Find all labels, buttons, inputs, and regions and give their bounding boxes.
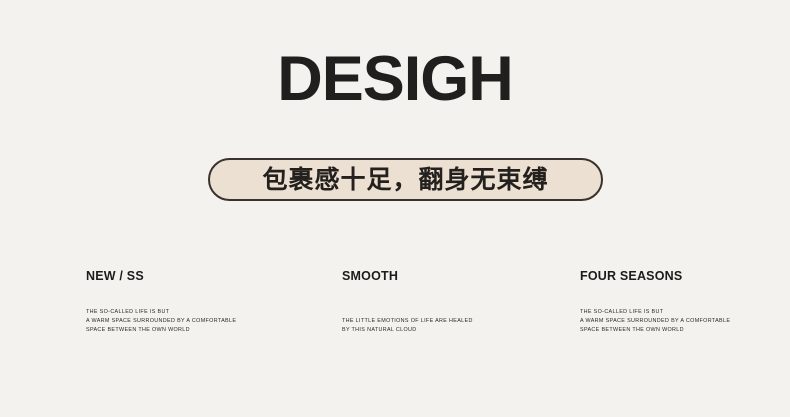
feature-body-line: THE SO-CALLED LIFE IS BUT	[86, 308, 286, 317]
tagline-badge-pill: 包裹感十足，翻身无束缚	[208, 158, 603, 201]
tagline-badge: 包裹感十足，翻身无束缚	[208, 158, 603, 201]
feature-body: THE LITTLE EMOTIONS OF LIFE ARE HEALED B…	[342, 317, 542, 335]
feature-heading: SMOOTH	[342, 270, 542, 283]
feature-heading: NEW / SS	[86, 270, 286, 283]
feature-body-line: THE LITTLE EMOTIONS OF LIFE ARE HEALED	[342, 317, 542, 326]
feature-body: THE SO-CALLED LIFE IS BUT A WARM SPACE S…	[580, 308, 780, 335]
feature-body-line: A WARM SPACE SURROUNDED BY A COMFORTABLE	[86, 317, 286, 326]
feature-body-line: THE SO-CALLED LIFE IS BUT	[580, 308, 780, 317]
feature-body: THE SO-CALLED LIFE IS BUT A WARM SPACE S…	[86, 308, 286, 335]
feature-body-line: SPACE BETWEEN THE OWN WORLD	[580, 326, 780, 335]
feature-column-smooth: SMOOTH THE LITTLE EMOTIONS OF LIFE ARE H…	[342, 270, 542, 335]
feature-column-new-ss: NEW / SS THE SO-CALLED LIFE IS BUT A WAR…	[86, 270, 286, 335]
page-title: DESIGH	[0, 48, 790, 111]
feature-body-line: A WARM SPACE SURROUNDED BY A COMFORTABLE	[580, 317, 780, 326]
feature-body-line: BY THIS NATURAL CLOUD	[342, 326, 542, 335]
tagline-badge-text: 包裹感十足，翻身无束缚	[262, 167, 548, 192]
feature-heading: FOUR SEASONS	[580, 270, 780, 283]
feature-body-line: SPACE BETWEEN THE OWN WORLD	[86, 326, 286, 335]
poster-canvas: DESIGH 包裹感十足，翻身无束缚 NEW / SS THE SO-CALLE…	[0, 0, 790, 417]
feature-column-four-seasons: FOUR SEASONS THE SO-CALLED LIFE IS BUT A…	[580, 270, 780, 335]
feature-columns: NEW / SS THE SO-CALLED LIFE IS BUT A WAR…	[0, 270, 790, 350]
